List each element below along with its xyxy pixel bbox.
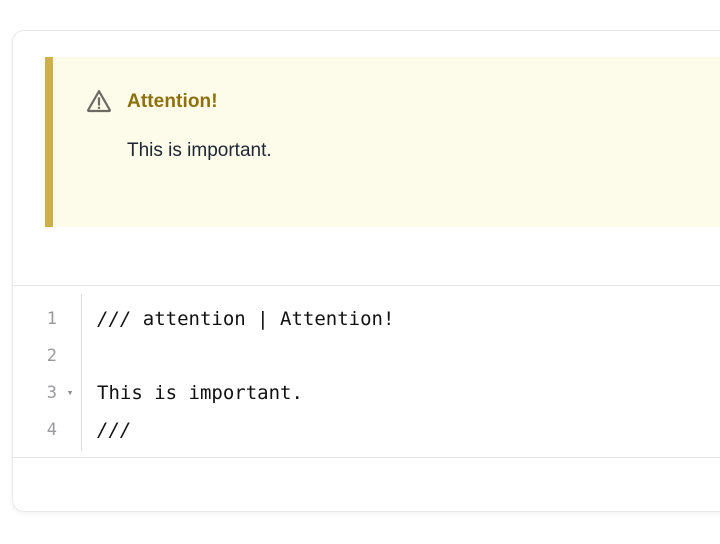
fence-token: /// [97,308,131,330]
admonition-title: Attention! [127,92,218,111]
line-number: 3 [13,383,57,403]
code-rest: attention | Attention! [131,308,394,330]
code-rest: This is important. [97,382,303,404]
preview-pane: Attention! This is important. [13,31,720,286]
code-line-3[interactable]: 3 ▾ This is important. [13,374,720,411]
admonition-header: Attention! [85,87,720,115]
fold-slot[interactable]: ▾ [57,387,81,398]
admonition-accent-bar [45,57,53,227]
fence-token: /// [97,419,131,441]
line-number: 4 [13,420,57,440]
admonition-text: This is important. [127,137,720,165]
admonition-attention: Attention! This is important. [45,57,720,227]
example-card: Attention! This is important. 1 /// atte… [12,30,720,512]
code-line-4[interactable]: 4 /// [13,411,720,448]
line-number: 2 [13,346,57,366]
chevron-down-icon[interactable]: ▾ [67,387,74,398]
screenshot-root: Attention! This is important. 1 /// atte… [0,0,720,544]
line-number: 1 [13,309,57,329]
code-line-content: This is important. [81,382,303,404]
code-line-1[interactable]: 1 /// attention | Attention! [13,300,720,337]
code-line-content: /// attention | Attention! [81,308,394,330]
admonition-body: Attention! This is important. [53,57,720,227]
code-line-2[interactable]: 2 [13,337,720,374]
code-line-content: /// [81,419,131,441]
warning-triangle-icon [85,87,113,115]
card-footer [13,458,720,510]
code-editor[interactable]: 1 /// attention | Attention! 2 3 ▾ This … [13,286,720,458]
